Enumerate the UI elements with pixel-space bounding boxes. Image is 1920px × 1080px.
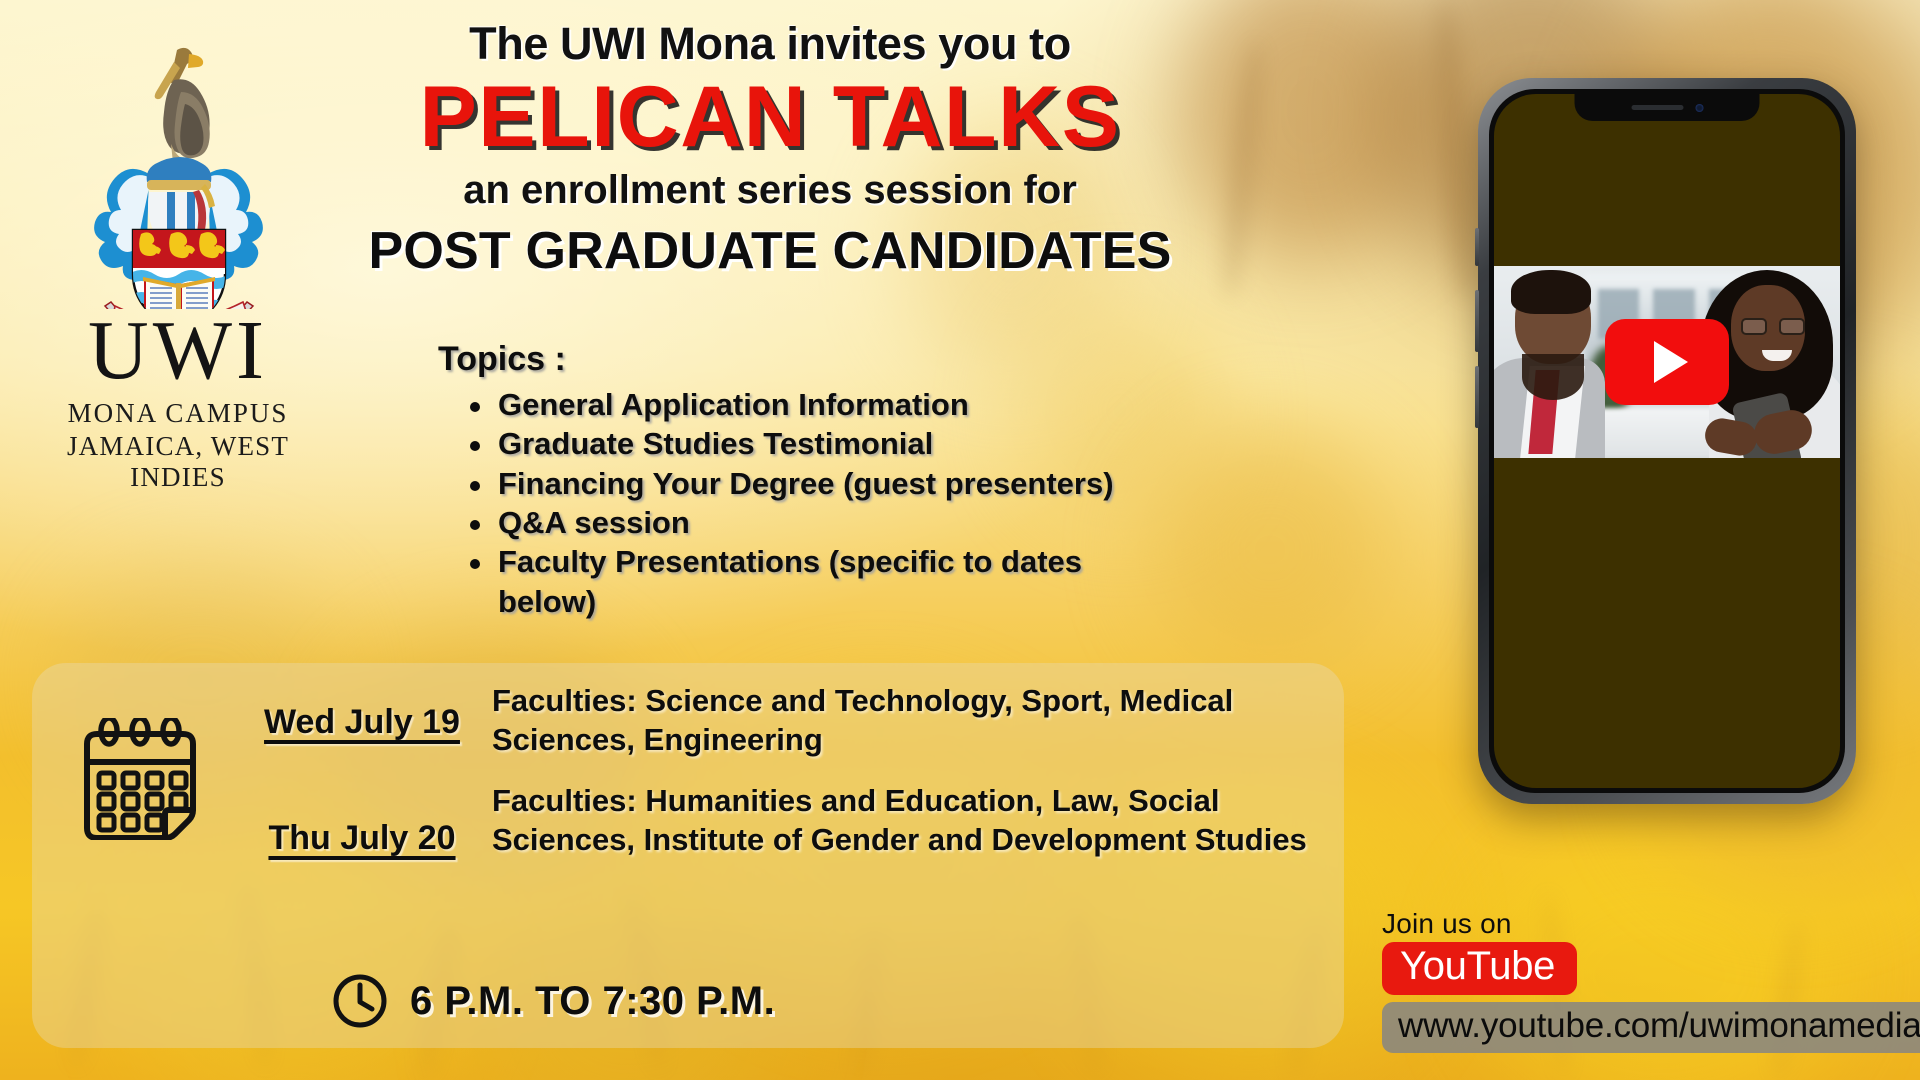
phone-notch — [1575, 94, 1760, 121]
list-item: General Application Information — [468, 385, 1178, 424]
person-man-beard — [1522, 354, 1584, 400]
uwi-acronym: UWI — [28, 311, 328, 392]
youtube-badge[interactable]: YouTube — [1382, 942, 1577, 995]
list-item: Financing Your Degree (guest presenters) — [468, 464, 1178, 503]
person-man-hair — [1511, 270, 1591, 314]
calendar-icon — [78, 718, 202, 840]
clock-icon — [332, 973, 388, 1029]
phone-bezel — [1489, 89, 1845, 793]
earpiece-speaker — [1631, 105, 1683, 110]
list-item: Graduate Studies Testimonial — [468, 424, 1178, 463]
schedule-date: Thu July 20 — [232, 781, 492, 858]
youtube-join-label: Join us on — [1382, 908, 1912, 940]
play-icon[interactable] — [1605, 319, 1729, 405]
headline-block: The UWI Mona invites you to PELICAN TALK… — [330, 18, 1210, 281]
pelican-talks-flyer: ORIENS EX OCCIDENTE LUX UWI MONA CAMPUS … — [0, 0, 1920, 1080]
event-subtitle: an enrollment series session for — [330, 168, 1210, 213]
person-woman-glasses — [1741, 318, 1767, 335]
phone-frame — [1478, 78, 1856, 804]
front-camera-icon — [1695, 104, 1703, 112]
video-thumbnail[interactable] — [1494, 266, 1840, 458]
play-triangle — [1654, 341, 1688, 383]
list-item: Q&A session — [468, 503, 1178, 542]
phone-screen[interactable] — [1494, 94, 1840, 788]
list-item: Faculty Presentations (specific to dates… — [468, 542, 1178, 621]
schedule-rows: Wed July 19 Faculties: Science and Techn… — [232, 681, 1322, 881]
phone-mockup — [1478, 78, 1856, 804]
phone-volume-down-button — [1475, 366, 1479, 428]
topics-list: General Application Information Graduate… — [468, 385, 1178, 621]
event-title: PELICAN TALKS — [330, 74, 1210, 162]
event-time: 6 P.M. TO 7:30 P.M. — [410, 979, 775, 1024]
youtube-url[interactable]: www.youtube.com/uwimonamedia — [1382, 1002, 1920, 1053]
schedule-panel: Wed July 19 Faculties: Science and Techn… — [32, 663, 1344, 1048]
schedule-row: Wed July 19 Faculties: Science and Techn… — [232, 681, 1322, 759]
time-row: 6 P.M. TO 7:30 P.M. — [332, 973, 775, 1029]
phone-mute-button — [1475, 228, 1479, 266]
uwi-campus-line1: MONA CAMPUS — [28, 398, 328, 429]
phone-volume-up-button — [1475, 290, 1479, 352]
schedule-row: Thu July 20 Faculties: Humanities and Ed… — [232, 781, 1322, 859]
topics-block: Topics : General Application Information… — [438, 340, 1178, 621]
uwi-crest-icon: ORIENS EX OCCIDENTE LUX — [71, 34, 286, 309]
schedule-description: Faculties: Humanities and Education, Law… — [492, 781, 1322, 859]
schedule-description: Faculties: Science and Technology, Sport… — [492, 681, 1322, 759]
invite-line: The UWI Mona invites you to — [330, 18, 1210, 70]
person-woman-glasses — [1779, 318, 1805, 335]
target-audience: POST GRADUATE CANDIDATES — [330, 221, 1210, 281]
schedule-date: Wed July 19 — [232, 681, 492, 742]
youtube-block: Join us on YouTube www.youtube.com/uwimo… — [1382, 908, 1912, 1053]
uwi-logo-block: ORIENS EX OCCIDENTE LUX UWI MONA CAMPUS … — [28, 34, 328, 493]
uwi-campus-line2: JAMAICA, WEST INDIES — [28, 431, 328, 493]
topics-label: Topics : — [438, 340, 1178, 379]
